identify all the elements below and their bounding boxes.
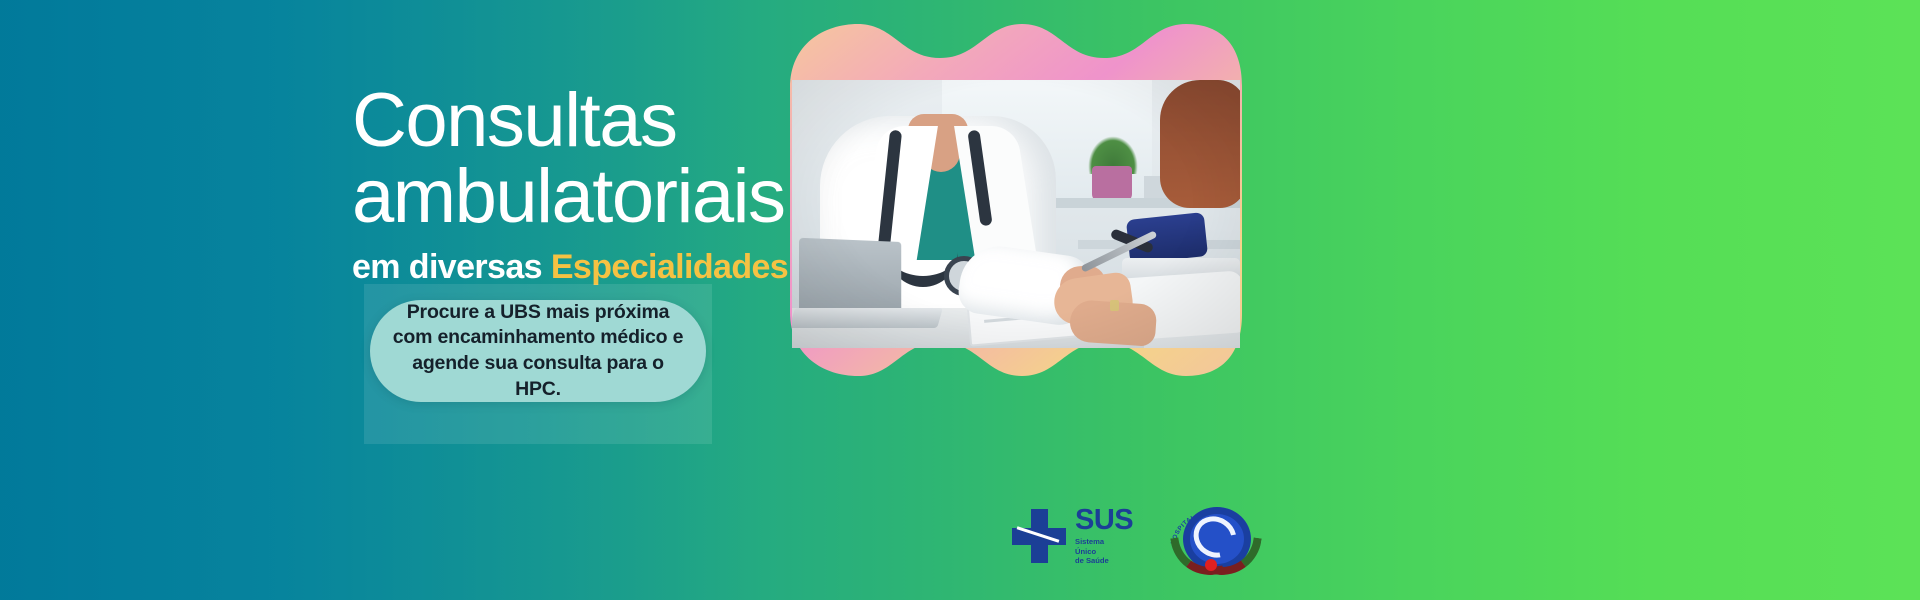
callout-text: Procure a UBS mais próxima com encaminha… [370,300,706,403]
subheadline-highlight: Especialidades. [551,248,797,286]
sus-wordmark: SUS Sistema Único de Saúde [1075,506,1133,566]
sus-subtitle-line-2: Único [1075,547,1133,557]
promotional-banner: Consultas ambulatoriais em diversas Espe… [0,0,1920,600]
photo-frame [790,24,1242,376]
sus-cross-icon [1012,509,1066,563]
callout-panel: Procure a UBS mais próxima com encaminha… [364,284,712,444]
sus-title: SUS [1075,506,1133,535]
hospital-padre-colombo-logo: HOSPITAL PADRE COLOMBO [1167,499,1253,573]
sus-logo: SUS Sistema Único de Saúde [1012,506,1133,566]
logo-row: SUS Sistema Único de Saúde HOSPITAL PADR… [1012,496,1312,576]
sus-subtitle: Sistema Único de Saúde [1075,537,1133,566]
sus-subtitle-line-3: de Saúde [1075,556,1133,566]
doctor-consultation-photo [792,80,1240,348]
sus-subtitle-line-1: Sistema [1075,537,1133,547]
callout-pill: Procure a UBS mais próxima com encaminha… [370,300,706,402]
subheadline-prefix: em diversas [352,248,551,286]
